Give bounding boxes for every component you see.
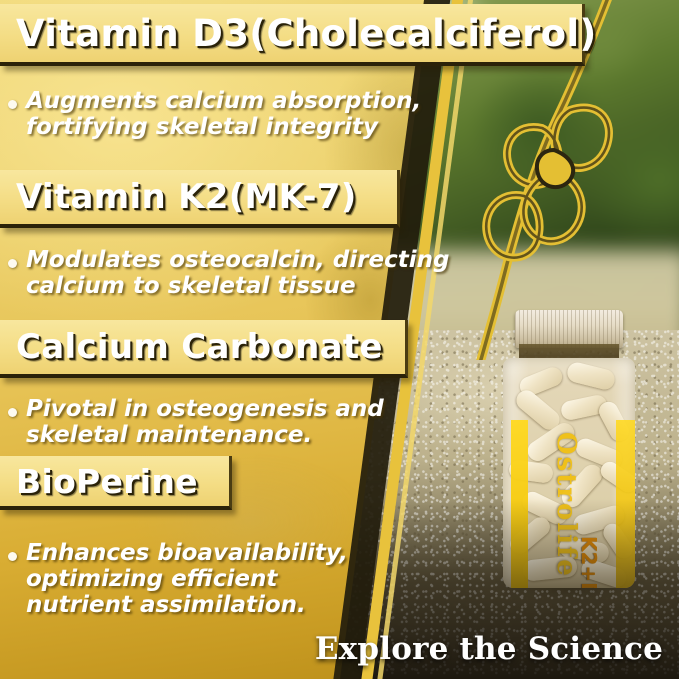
- bullet-text-vitamin-d3: Augments calcium absorption, fortifying …: [26, 88, 421, 140]
- bullet-line: optimizing efficient: [26, 566, 277, 592]
- heading-band-vitamin-d3: Vitamin D3(Cholecalciferol): [0, 4, 585, 66]
- bullet-text-calcium-carbonate: Pivotal in osteogenesis and skeletal mai…: [26, 396, 384, 448]
- bullet-text-vitamin-k2: Modulates osteocalcin, directing calcium…: [26, 247, 449, 299]
- footer-tagline: Explore the Science: [315, 631, 663, 667]
- infographic-canvas: Ostrolife K2+D3 capsules Supplement Vita…: [0, 0, 679, 679]
- heading-band-vitamin-k2: Vitamin K2(MK-7): [0, 170, 400, 228]
- heading-band-calcium-carbonate: Calcium Carbonate: [0, 320, 408, 378]
- bullet-vitamin-k2: Modulates osteocalcin, directing calcium…: [8, 247, 498, 299]
- bullet-line: fortifying skeletal integrity: [26, 114, 378, 140]
- bottle-cap: [515, 310, 623, 348]
- footer-bar: Explore the Science: [0, 619, 679, 679]
- bullet-line: Augments calcium absorption,: [26, 88, 421, 114]
- bullet-line: nutrient assimilation.: [26, 592, 306, 618]
- bullet-dot-icon: [8, 100, 17, 109]
- heading-bioperine: BioPerine: [0, 462, 198, 501]
- bullet-line: calcium to skeletal tissue: [26, 273, 356, 299]
- heading-band-bioperine: BioPerine: [0, 456, 232, 510]
- bullet-calcium-carbonate: Pivotal in osteogenesis and skeletal mai…: [8, 396, 438, 448]
- bullet-dot-icon: [8, 259, 17, 268]
- heading-calcium-carbonate: Calcium Carbonate: [0, 327, 383, 367]
- bullet-dot-icon: [8, 552, 17, 561]
- bullet-vitamin-d3: Augments calcium absorption, fortifying …: [8, 88, 478, 140]
- bullet-line: skeletal maintenance.: [26, 422, 312, 448]
- bullet-bioperine: Enhances bioavailability, optimizing eff…: [8, 540, 428, 618]
- bullet-line: Enhances bioavailability,: [26, 540, 348, 566]
- bullet-line: Modulates osteocalcin, directing: [26, 247, 449, 273]
- bullet-dot-icon: [8, 408, 17, 417]
- bullet-line: Pivotal in osteogenesis and: [26, 396, 384, 422]
- heading-vitamin-d3: Vitamin D3(Cholecalciferol): [0, 12, 597, 55]
- bullet-text-bioperine: Enhances bioavailability, optimizing eff…: [26, 540, 348, 618]
- heading-vitamin-k2: Vitamin K2(MK-7): [0, 177, 357, 217]
